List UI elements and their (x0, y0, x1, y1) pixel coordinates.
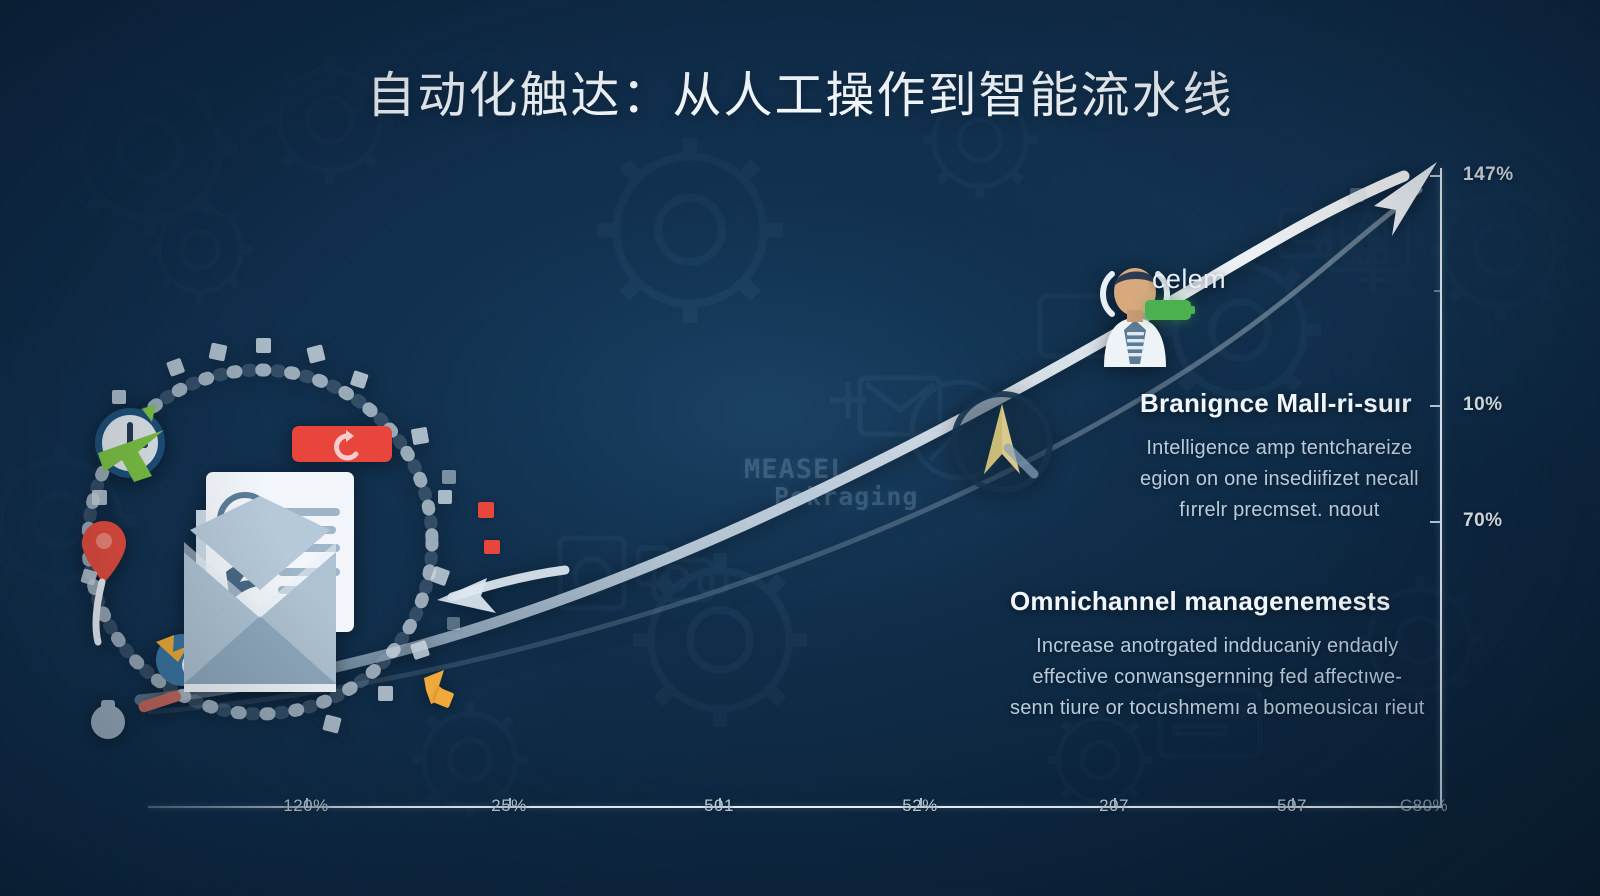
callout-line: fırrelr precmset. nɑout (1140, 495, 1419, 526)
watermark-line-1: MEASEL (744, 456, 918, 484)
callout-omnichannel: Omnichannel managenemests Increase anotr… (1010, 586, 1425, 724)
callout-line: senn tiure or tocushmemı a bomeousicaı r… (1010, 693, 1425, 724)
callout-line: Intelligence amp tentchareize (1140, 433, 1419, 464)
y-axis (1440, 168, 1442, 808)
y-tick (1430, 405, 1441, 407)
accent-chip (442, 470, 456, 484)
y-tick (1434, 290, 1442, 292)
email-automation-illustration (60, 330, 480, 760)
page-title: 自动化触达：从人工操作到智能流水线 (0, 68, 1600, 124)
accent-chip (447, 617, 460, 630)
callout-line: Increase anotrgated indducaniy endaɑly (1010, 631, 1425, 662)
x-axis-label: 501 (704, 796, 734, 816)
x-axis-label: 507 (1277, 796, 1307, 816)
watermark-line-2: Pekraging (744, 484, 918, 510)
y-tick (1430, 175, 1441, 177)
y-axis-label: 10% (1463, 394, 1503, 416)
compass-navigation-icon (948, 388, 1056, 496)
operator-agent: celem (1090, 252, 1280, 367)
callout-line: egion on one insediifizet necall (1140, 464, 1419, 495)
callout-heading: Branignce Mall-ri-suır (1140, 388, 1419, 419)
accent-chip (1350, 188, 1364, 202)
y-tick (1430, 521, 1441, 523)
x-axis-label: C80% (1400, 796, 1448, 816)
accent-chip (478, 502, 494, 518)
slide-canvas: 自动化触达：从人工操作到智能流水线 120% 25% 501 52% 207 5… (0, 0, 1600, 896)
y-axis-label: 147% (1463, 164, 1514, 186)
status-badge (1145, 300, 1191, 320)
callout-heading: Omnichannel managenemests (1010, 586, 1425, 617)
accent-chip (484, 540, 500, 554)
refresh-badge-icon (292, 426, 392, 462)
watermark: MEASEL Pekraging (744, 456, 918, 511)
x-axis-label: 25% (491, 796, 527, 816)
x-axis-label: 120% (283, 796, 328, 816)
x-axis-label: 207 (1099, 796, 1129, 816)
agent-brand-label: celem (1152, 264, 1226, 295)
x-axis-label: 52% (902, 796, 938, 816)
x-axis (148, 806, 1442, 808)
y-axis-label: 70% (1463, 510, 1503, 532)
callout-line: effective conwansgernning fed affectıwe- (1010, 662, 1425, 693)
callout-branding: Branignce Mall-ri-suır Intelligence amp … (1140, 388, 1419, 526)
